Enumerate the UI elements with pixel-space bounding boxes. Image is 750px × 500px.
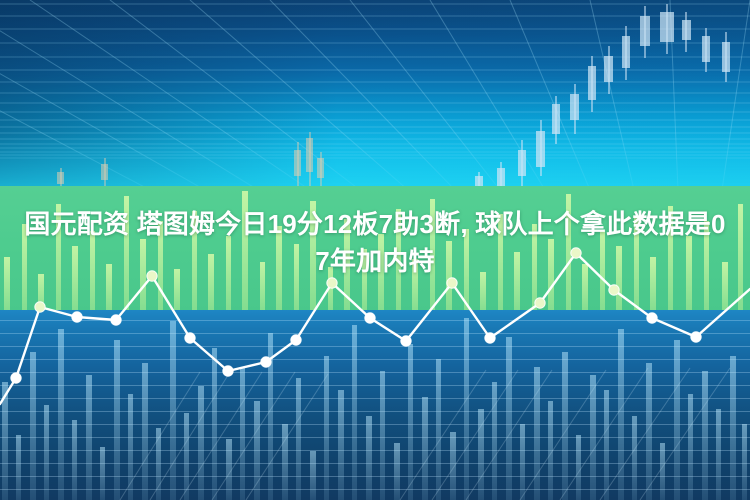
chart-marker (111, 315, 121, 325)
chart-marker (291, 335, 301, 345)
chart-marker (401, 336, 411, 346)
chart-marker (72, 312, 82, 322)
chart-marker (35, 302, 45, 312)
chart-marker (691, 332, 701, 342)
chart-marker (261, 357, 271, 367)
chart-marker (223, 366, 233, 376)
headline-line-1: 国元配资 塔图姆今日19分12板7助3断, 球队上个拿此数据是0 (14, 206, 736, 243)
banner-image: 国元配资 塔图姆今日19分12板7助3断, 球队上个拿此数据是0 7年加内特 (0, 0, 750, 500)
chart-marker (365, 313, 375, 323)
headline-line-2: 7年加内特 (14, 243, 736, 280)
page-title: 国元配资 塔图姆今日19分12板7助3断, 球队上个拿此数据是0 7年加内特 (0, 206, 750, 280)
chart-marker (485, 333, 495, 343)
chart-marker (11, 373, 21, 383)
chart-marker (185, 333, 195, 343)
chart-marker (609, 285, 619, 295)
chart-marker (535, 298, 545, 308)
chart-marker (647, 313, 657, 323)
